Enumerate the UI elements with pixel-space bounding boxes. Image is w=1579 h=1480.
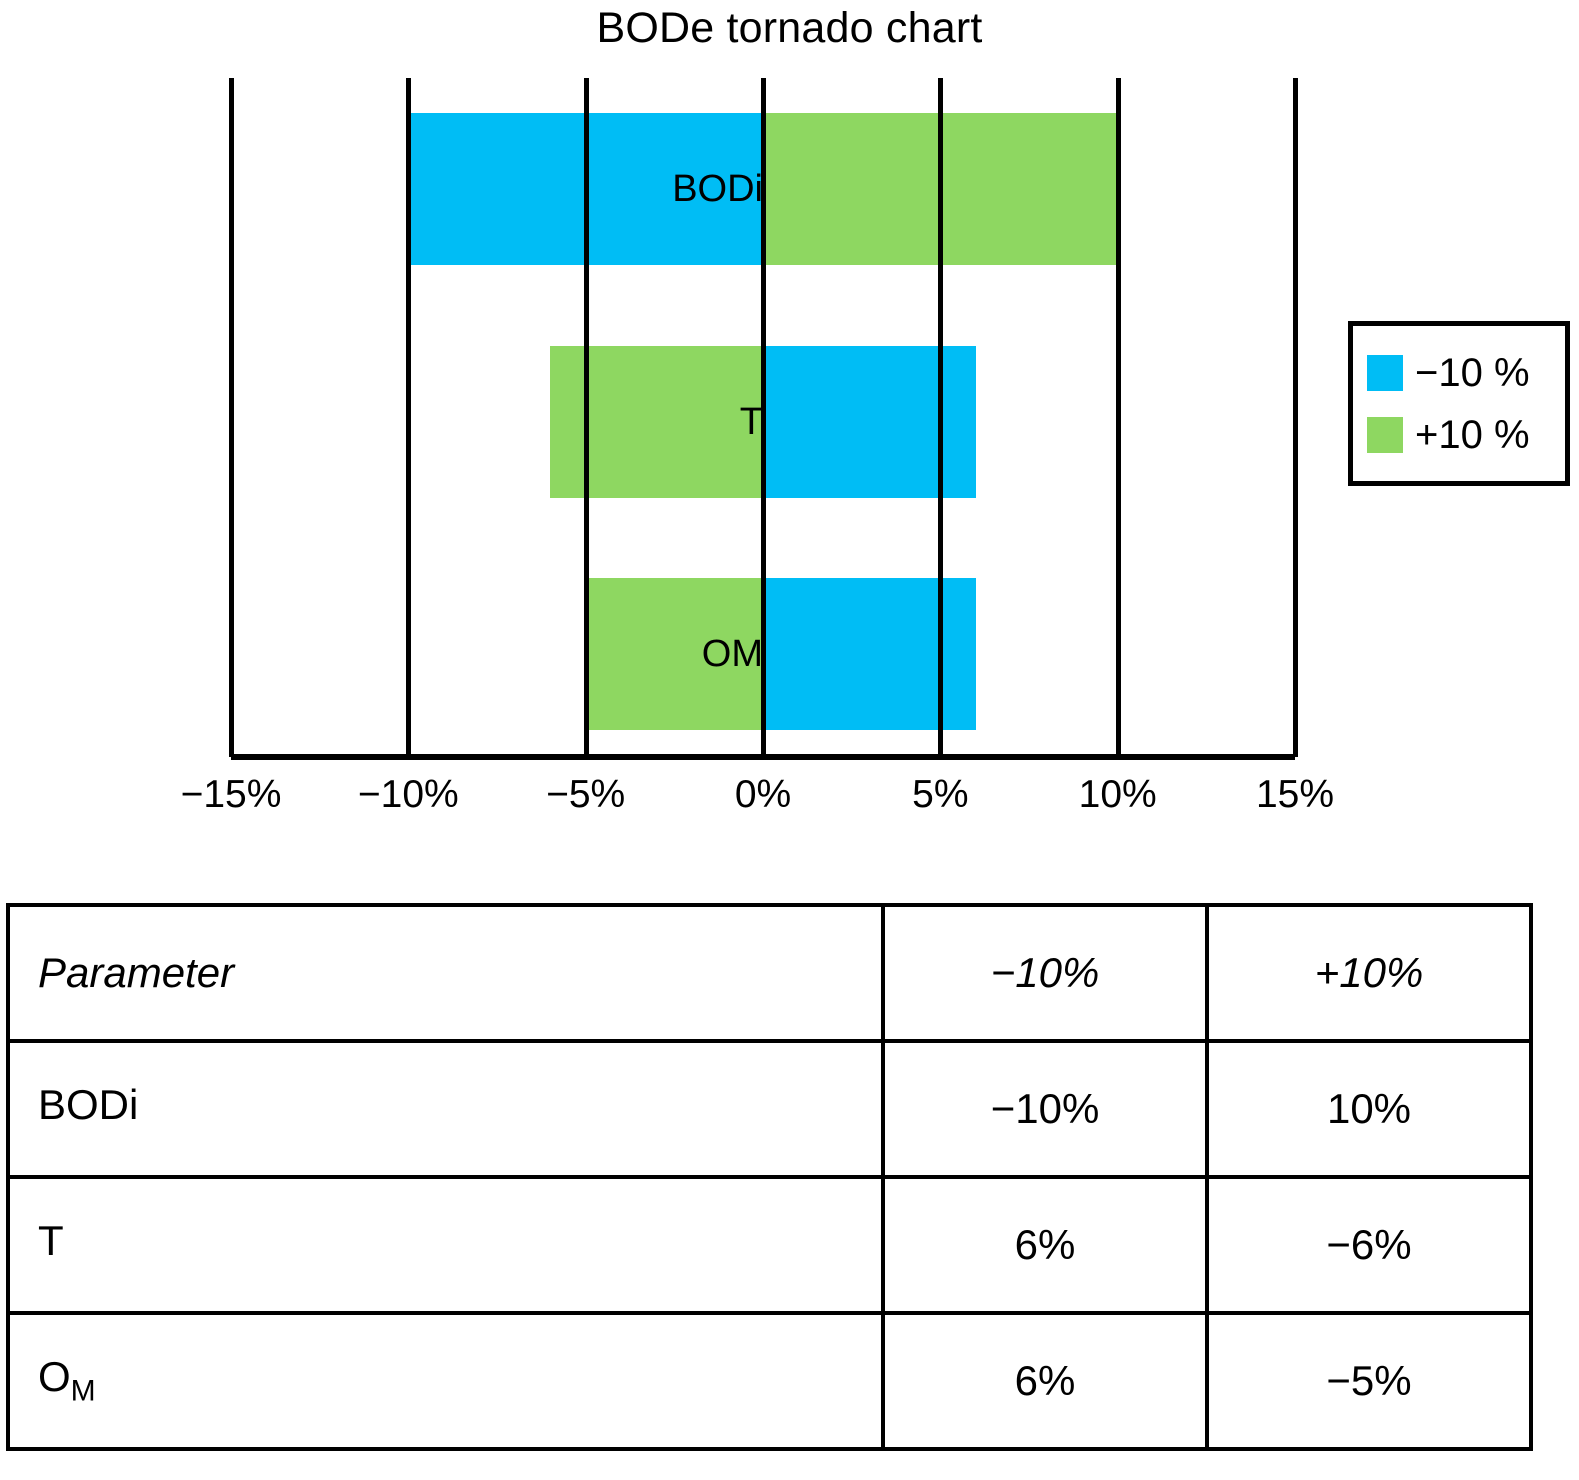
cell-plus10-om: −5% [1207,1313,1531,1449]
parameter-name: BODi [38,1081,138,1128]
gridline-15 [1293,78,1298,757]
cell-minus10-om: 6% [883,1313,1207,1449]
legend-label-minus10: −10 % [1415,352,1530,394]
table-row: BODi −10% 10% [8,1041,1531,1177]
tornado-chart-figure: BODe tornado chart BODiTOM −10 % +10 % −… [0,0,1579,870]
cell-parameter-t: T [8,1177,883,1313]
cell-plus10-t: −6% [1207,1177,1531,1313]
legend-item-minus10: −10 % [1367,352,1565,394]
cell-parameter-om: OM [8,1313,883,1449]
parameter-subscript: M [71,1375,96,1408]
cell-parameter-bodi: BODi [8,1041,883,1177]
table-row: T 6% −6% [8,1177,1531,1313]
gridline-10 [1116,78,1121,757]
x-tick-label-10: 10% [1018,772,1218,818]
legend-label-plus10: +10 % [1415,414,1530,456]
cell-plus10-bodi: 10% [1207,1041,1531,1177]
header-plus10: +10% [1207,905,1531,1041]
cell-minus10-bodi: −10% [883,1041,1207,1177]
chart-title: BODe tornado chart [0,2,1579,54]
gridline-5 [938,78,943,757]
header-minus10: −10% [883,905,1207,1041]
header-parameter: Parameter [8,905,883,1041]
gridline--15 [229,78,234,757]
gridline--5 [584,78,589,757]
x-tick-label-0: 0% [663,772,863,818]
table-row: OM 6% −5% [8,1313,1531,1449]
legend-swatch-cyan [1367,355,1403,391]
cell-minus10-t: 6% [883,1177,1207,1313]
parameter-name: O [38,1353,71,1400]
x-tick-label--5: −5% [486,772,686,818]
parameter-name: T [38,1217,64,1264]
gridline--10 [406,78,411,757]
legend-item-plus10: +10 % [1367,414,1565,456]
plot-area [231,78,1295,757]
x-axis-line [231,754,1295,760]
table-header-row: Parameter −10% +10% [8,905,1531,1041]
x-tick-label-5: 5% [840,772,1040,818]
legend-swatch-green [1367,417,1403,453]
x-tick-label-15: 15% [1195,772,1395,818]
chart-legend: −10 % +10 % [1348,321,1570,486]
gridline-0 [761,78,766,757]
table-body: Parameter −10% +10% BODi −10% 10% T 6% −… [8,905,1531,1449]
x-tick-label--15: −15% [131,772,331,818]
parameter-sensitivity-table: Parameter −10% +10% BODi −10% 10% T 6% −… [6,903,1533,1451]
x-tick-label--10: −10% [308,772,508,818]
